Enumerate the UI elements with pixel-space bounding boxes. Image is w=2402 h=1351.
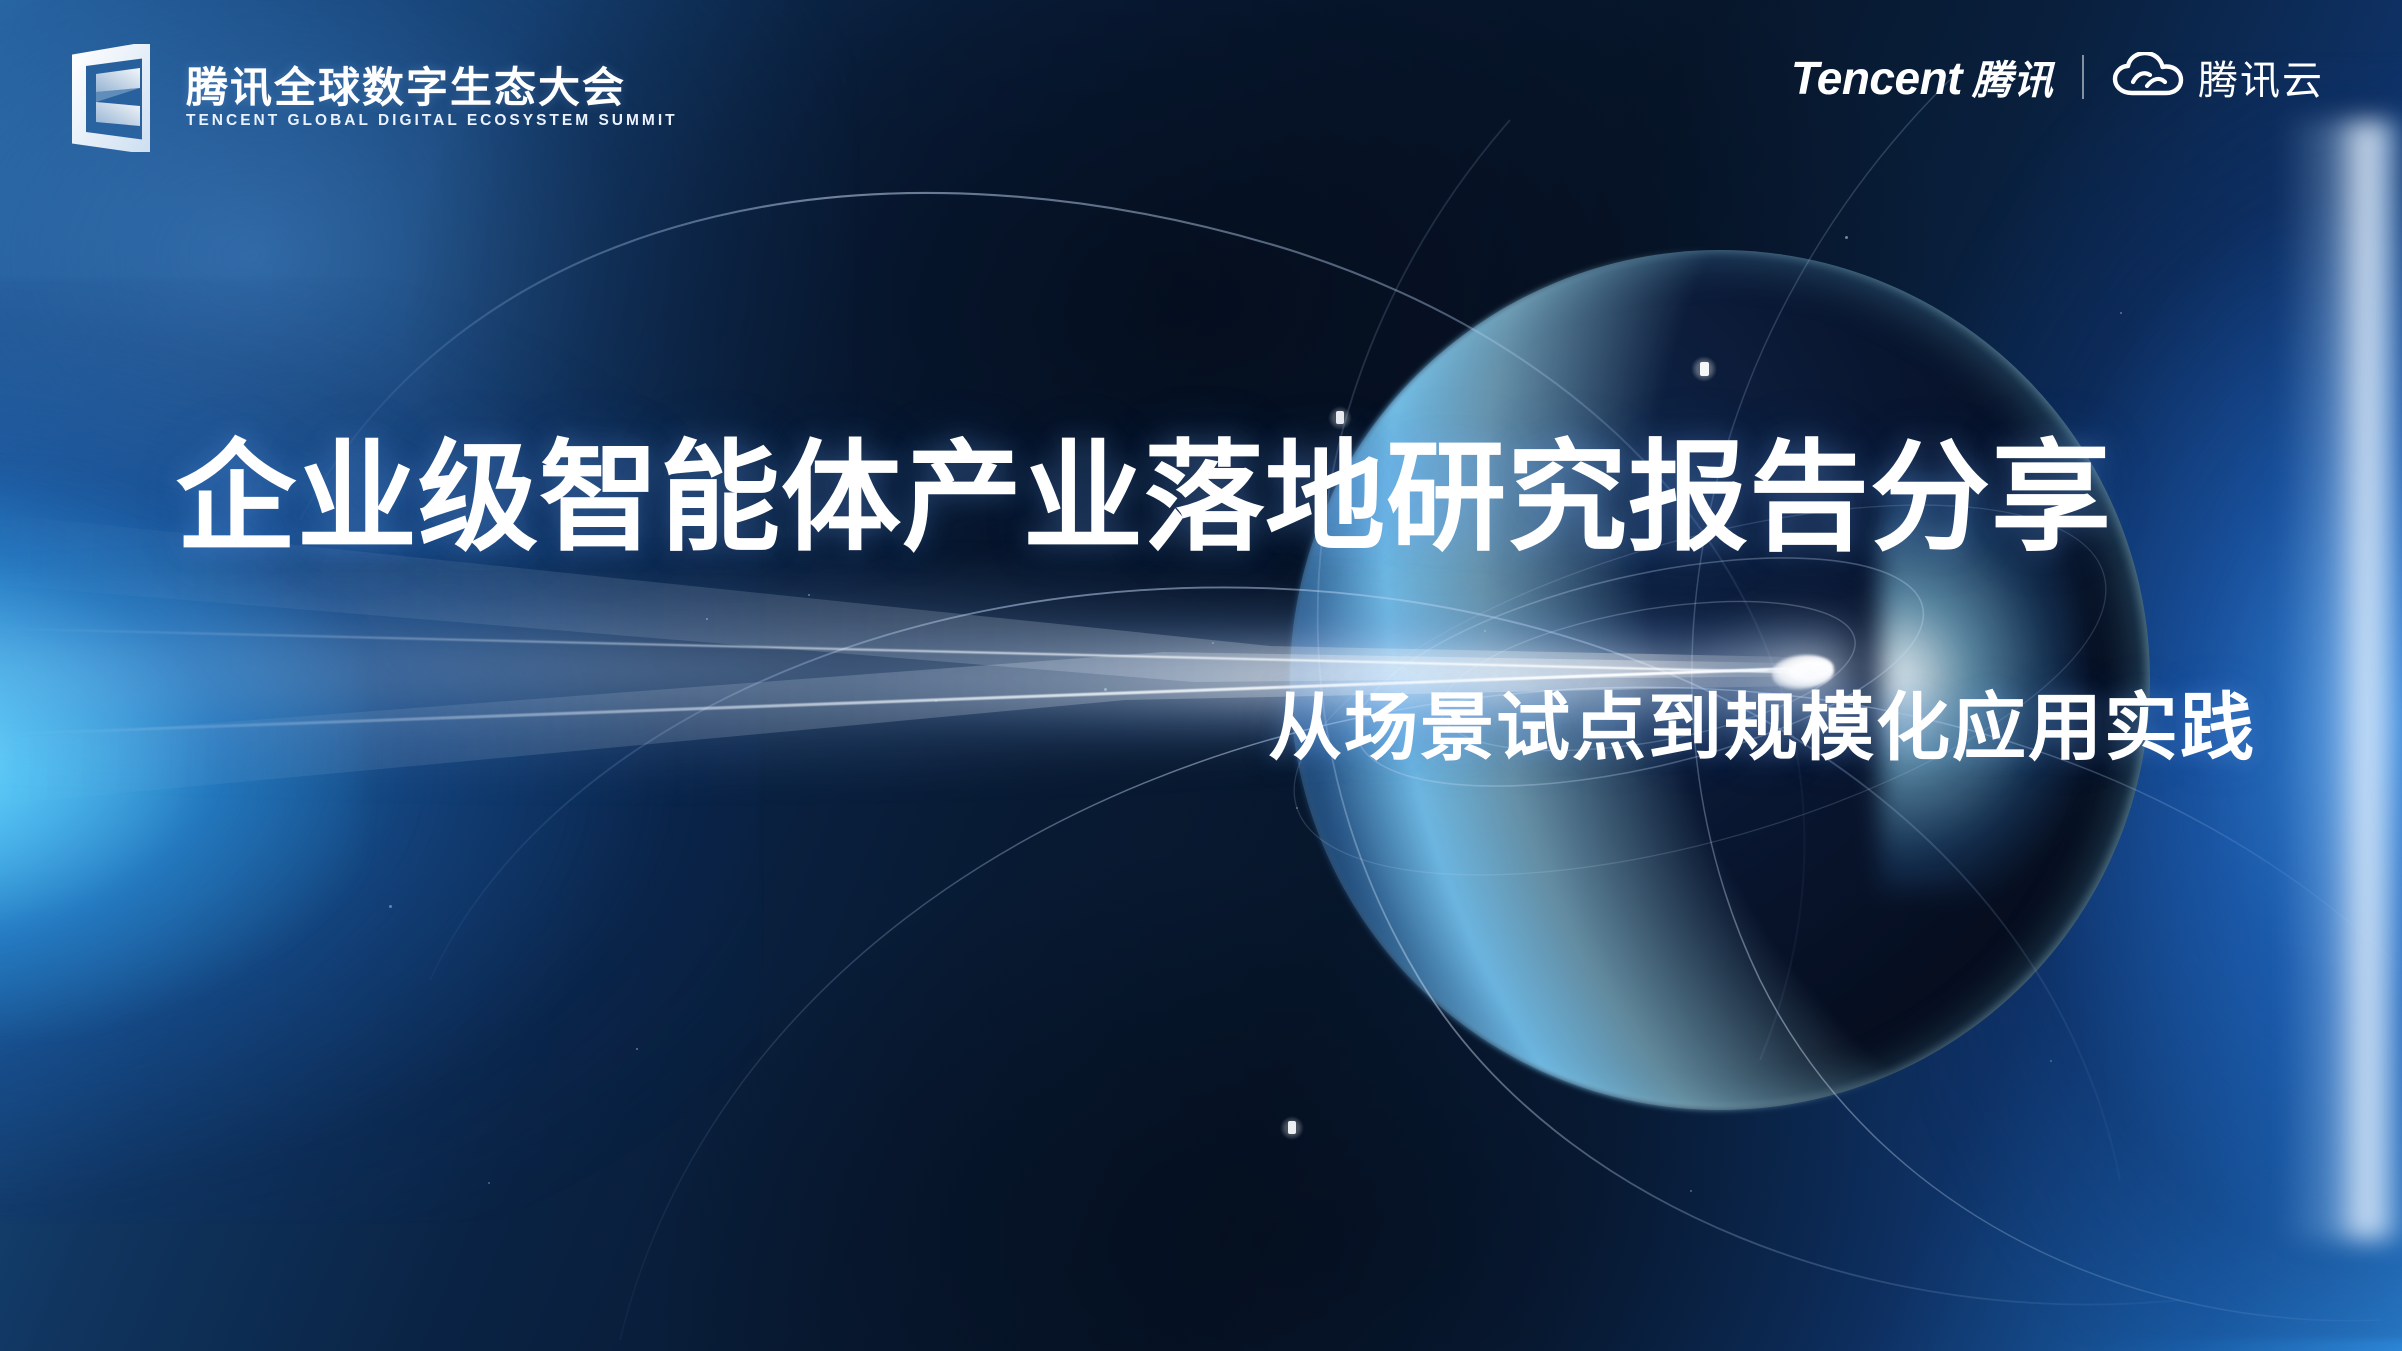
- slide-header: 腾讯全球数字生态大会 TENCENT GLOBAL DIGITAL ECOSYS…: [0, 0, 2402, 170]
- tencent-name-cn: 腾讯: [1972, 48, 2054, 106]
- summit-logo-mark-icon: [72, 44, 164, 152]
- brand-divider: [2082, 55, 2084, 99]
- summit-name-cn: 腾讯全球数字生态大会: [186, 67, 678, 109]
- right-edge-light-band: [2282, 120, 2402, 1240]
- light-streak-beam: [0, 520, 1880, 840]
- summit-brand-text: 腾讯全球数字生态大会 TENCENT GLOBAL DIGITAL ECOSYS…: [186, 67, 678, 129]
- tencent-wordmark: Tencent: [1791, 51, 1962, 105]
- star-speck: [2120, 312, 2122, 314]
- tencent-logo: Tencent 腾讯: [1791, 48, 2054, 106]
- summit-name-en: TENCENT GLOBAL DIGITAL ECOSYSTEM SUMMIT: [186, 113, 678, 129]
- corporate-brand-lockup: Tencent 腾讯 腾讯云: [1791, 48, 2324, 106]
- cloud-icon: [2112, 52, 2184, 103]
- star-speck: [1690, 1190, 1692, 1192]
- tencent-cloud-logo: 腾讯云: [2112, 48, 2324, 106]
- tencent-cloud-name-cn: 腾讯云: [2198, 48, 2324, 106]
- slide-canvas: 腾讯全球数字生态大会 TENCENT GLOBAL DIGITAL ECOSYS…: [0, 0, 2402, 1351]
- star-speck: [2050, 1060, 2052, 1062]
- star-speck: [1845, 236, 1848, 239]
- summit-brand-lockup: 腾讯全球数字生态大会 TENCENT GLOBAL DIGITAL ECOSYS…: [72, 44, 678, 152]
